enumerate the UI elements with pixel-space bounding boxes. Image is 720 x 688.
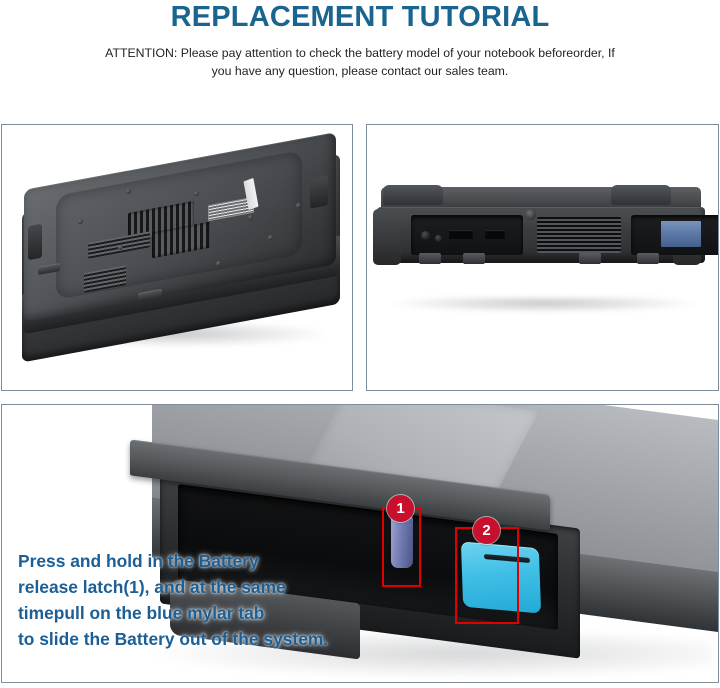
page-title: REPLACEMENT TUTORIAL xyxy=(0,1,720,34)
callout-badge-1[interactable]: 1 xyxy=(387,495,414,522)
instruction-line-2: release latch(1), and at the same xyxy=(18,574,348,600)
exhaust-vent-grille xyxy=(537,217,621,253)
instruction-line-3: timepull on the blue mylar tab xyxy=(18,600,348,626)
rubber-bumper-left xyxy=(373,209,401,265)
hinge-cap-left xyxy=(383,185,443,205)
hdmi-port xyxy=(449,230,473,239)
battery-cell xyxy=(661,221,701,247)
rubber-corner-bumper xyxy=(310,175,328,208)
usb-port xyxy=(485,230,505,239)
instruction-text: Press and hold in the Battery release la… xyxy=(18,548,348,652)
instruction-line-4: to slide the Battery out of the system. xyxy=(18,626,348,652)
bottom-clip xyxy=(463,253,485,264)
drop-shadow xyxy=(385,297,703,313)
header: REPLACEMENT TUTORIAL ATTENTION: Please p… xyxy=(0,0,720,112)
bottom-clip xyxy=(637,253,659,264)
audio-jack-port xyxy=(421,231,430,240)
laptop-rear-photo xyxy=(367,125,718,390)
laptop-underside-photo xyxy=(2,125,352,390)
instruction-line-1: Press and hold in the Battery xyxy=(18,548,348,574)
power-indicator-icon xyxy=(525,209,536,220)
callout-badge-2[interactable]: 2 xyxy=(473,517,500,544)
rubber-corner-bumper xyxy=(28,224,42,261)
panel-rear-view xyxy=(366,124,719,391)
bottom-clip xyxy=(579,253,601,264)
hinge-cap-right xyxy=(611,185,671,205)
panel-bottom-view xyxy=(1,124,353,391)
attention-note: ATTENTION: Please pay attention to check… xyxy=(104,44,616,80)
bottom-clip xyxy=(419,253,441,264)
secondary-jack-port xyxy=(435,235,442,242)
